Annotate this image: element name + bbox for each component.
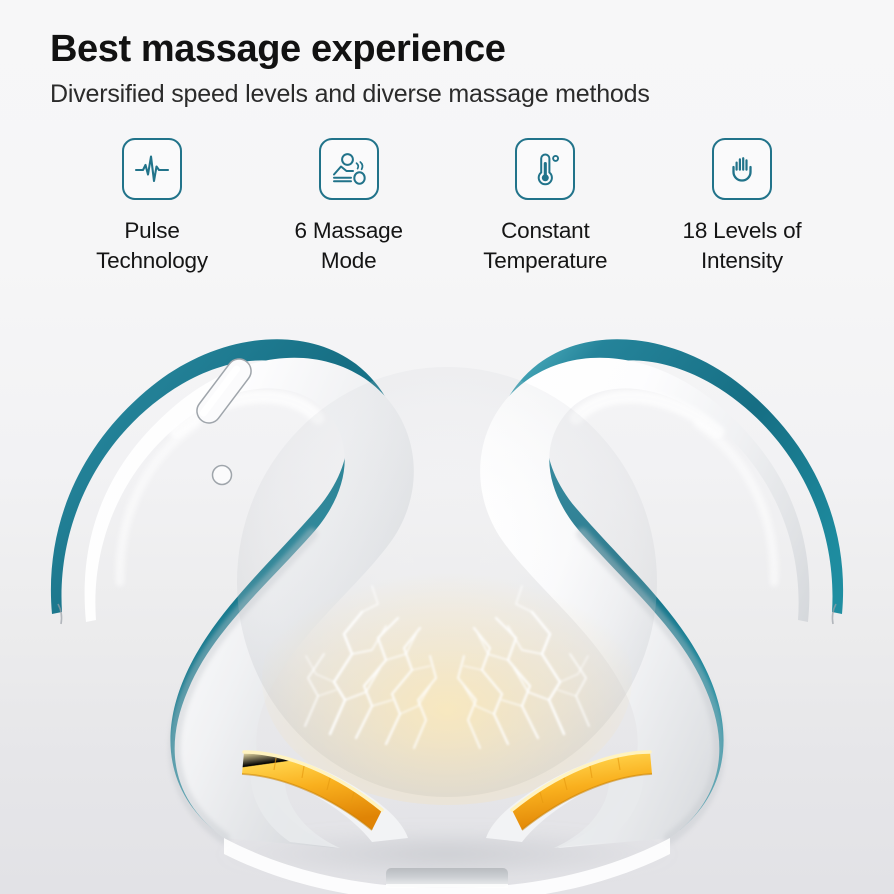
product-infographic: Best massage experience Diversified spee… [0, 0, 894, 894]
feature-massage-mode: 6 Massage Mode [259, 138, 439, 275]
feature-intensity-levels: 18 Levels of Intensity [652, 138, 832, 275]
feature-pulse-technology: Pulse Technology [62, 138, 242, 275]
feature-constant-temperature: Constant Temperature [455, 138, 635, 275]
feature-label: 18 Levels of Intensity [683, 216, 802, 275]
hand-intensity-icon [712, 138, 772, 200]
page-title: Best massage experience [0, 28, 894, 71]
feature-label: Constant Temperature [483, 216, 607, 275]
neck-massager-device [0, 282, 894, 894]
header: Best massage experience Diversified spee… [0, 0, 894, 108]
massage-person-icon [319, 138, 379, 200]
indicator-light [213, 466, 232, 485]
feature-label: 6 Massage Mode [295, 216, 403, 275]
page-subtitle: Diversified speed levels and diverse mas… [0, 71, 894, 109]
feature-label: Pulse Technology [96, 216, 208, 275]
thermometer-icon [515, 138, 575, 200]
pulse-glow [262, 555, 632, 805]
feature-list: Pulse Technology 6 Massage Mode [0, 138, 894, 275]
pulse-waveform-icon [122, 138, 182, 200]
